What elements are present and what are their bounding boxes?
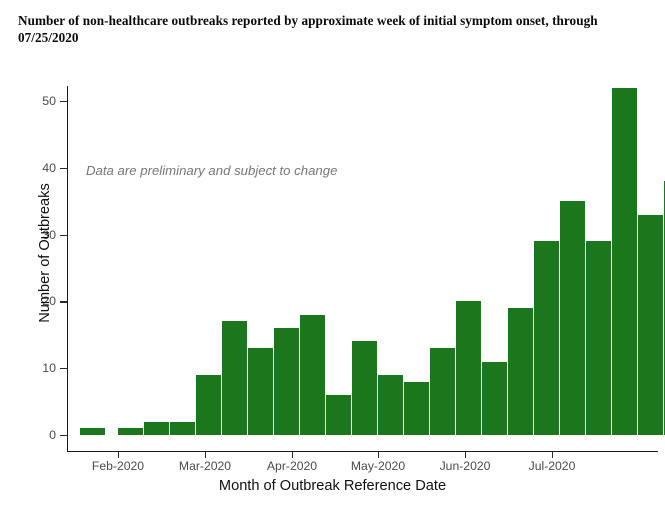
chart-title: Number of non-healthcare outbreaks repor… — [18, 12, 652, 46]
bar — [612, 88, 637, 435]
y-tick-mark — [60, 301, 67, 302]
y-tick-mark — [60, 435, 67, 436]
x-tick-mark — [552, 452, 553, 458]
bar — [404, 382, 429, 435]
bar — [326, 395, 351, 435]
x-tick-mark — [205, 452, 206, 458]
x-tick-mark — [118, 452, 119, 458]
bar — [482, 362, 507, 435]
bar — [638, 215, 663, 435]
bar — [534, 241, 559, 435]
bar — [170, 422, 195, 435]
bar — [196, 375, 221, 435]
x-axis-line — [67, 451, 658, 452]
bar — [248, 348, 273, 435]
bar — [300, 315, 325, 435]
bar — [222, 321, 247, 435]
y-tick-label: 0 — [4, 428, 56, 442]
bar — [560, 201, 585, 435]
x-tick-label: Jun-2020 — [440, 459, 491, 473]
bar — [508, 308, 533, 435]
x-tick-mark — [378, 452, 379, 458]
x-tick-label: May-2020 — [351, 459, 405, 473]
bar — [586, 241, 611, 435]
y-axis-title: Number of Outbreaks — [37, 113, 53, 393]
bar — [456, 301, 481, 435]
bar — [80, 428, 105, 435]
x-tick-label: Mar-2020 — [179, 459, 231, 473]
plot-area — [68, 88, 658, 435]
bar — [378, 375, 403, 435]
bar — [118, 428, 143, 435]
y-tick-mark — [60, 235, 67, 236]
x-tick-label: Apr-2020 — [267, 459, 317, 473]
x-tick-label: Feb-2020 — [92, 459, 144, 473]
y-tick-label: 50 — [4, 94, 56, 108]
x-tick-mark — [465, 452, 466, 458]
bar — [352, 341, 377, 435]
y-tick-mark — [60, 168, 67, 169]
outbreak-bar-chart: Number of non-healthcare outbreaks repor… — [0, 0, 665, 515]
bar — [144, 422, 169, 435]
y-tick-mark — [60, 368, 67, 369]
y-tick-mark — [60, 101, 67, 102]
x-axis-title: Month of Outbreak Reference Date — [0, 478, 665, 494]
x-axis-origin-stub — [67, 436, 68, 452]
x-tick-mark — [292, 452, 293, 458]
bar — [430, 348, 455, 435]
x-tick-label: Jul-2020 — [529, 459, 576, 473]
bar — [274, 328, 299, 435]
